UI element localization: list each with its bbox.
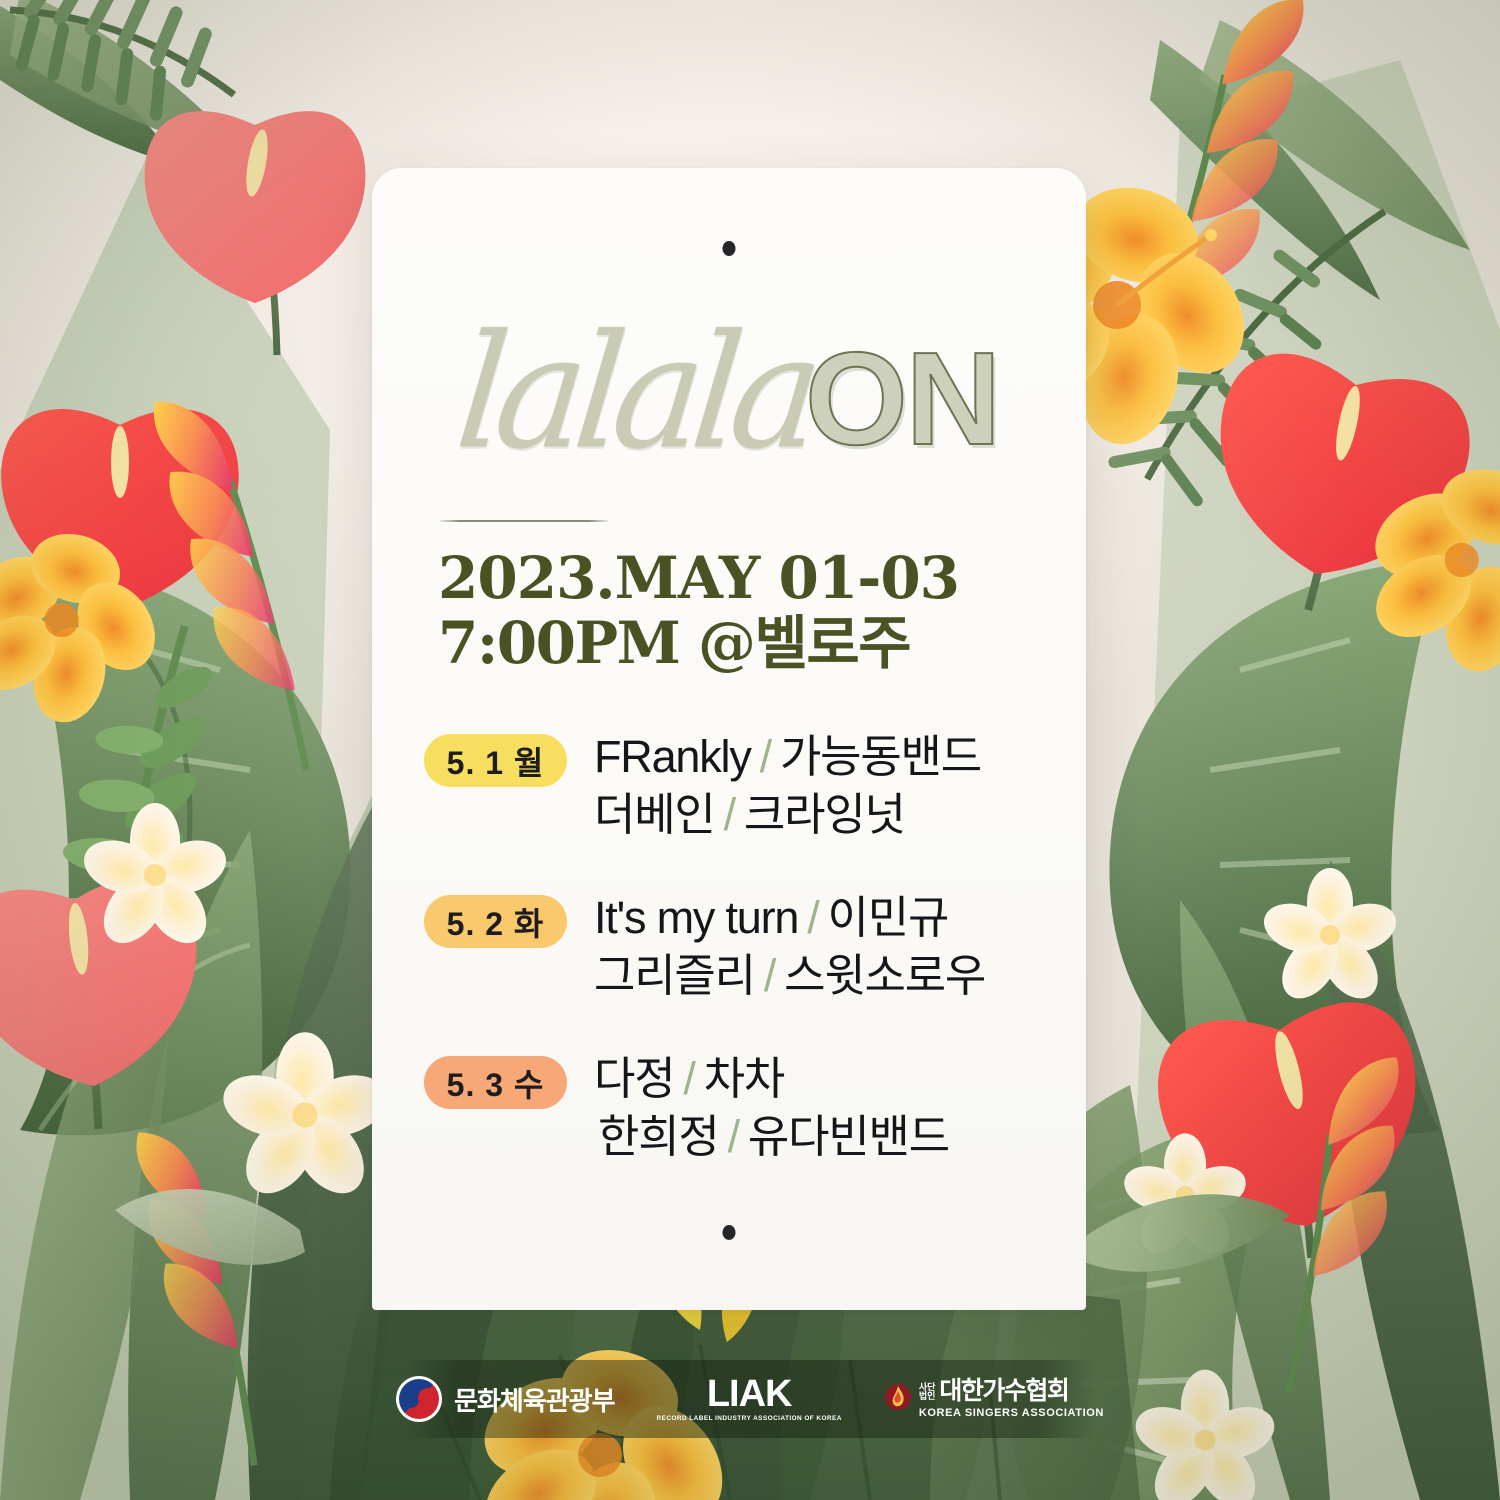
artist-row: 그리즐리/스윗소로우 <box>594 947 985 1005</box>
separator-slash: / <box>755 950 784 1001</box>
lineup-day: 5. 2 화 It's my turn/이민규 그리즐리/스윗소로우 <box>424 889 1072 1004</box>
ministry-logo: 문화체육관광부 <box>396 1376 614 1422</box>
separator-slash: / <box>719 1111 748 1162</box>
lineup-list: 5. 1 월 FRankly/가능동밴드 더베인/크라잉넛 5. 2 화 It'… <box>424 728 1072 1212</box>
decorative-dot-top <box>723 241 736 256</box>
artist-name: 유다빈밴드 <box>748 1111 949 1162</box>
ksa-logo: 사단 법인 대한가수협회 KOREA SINGERS ASSOCIATION <box>884 1379 1104 1419</box>
artist-name: 이민규 <box>828 892 949 943</box>
separator-slash: / <box>751 731 780 782</box>
lineup-day: 5. 1 월 FRankly/가능동밴드 더베인/크라잉넛 <box>424 728 1072 843</box>
day-artists: FRankly/가능동밴드 더베인/크라잉넛 <box>594 728 981 843</box>
event-logo: lalala ON <box>372 318 1086 488</box>
separator-slash: / <box>674 1053 703 1104</box>
day-artists: 다정/차차 한희정/유다빈밴드 <box>594 1050 949 1165</box>
artist-row: 더베인/크라잉넛 <box>594 786 981 844</box>
logo-bold-text: ON <box>805 333 999 465</box>
artist-name: 그리즐리 <box>594 950 755 1001</box>
sponsor-logo-bar: 문화체육관광부 LIAK RECORD LABEL INDUSTRY ASSOC… <box>405 1360 1095 1438</box>
day-badge: 5. 1 월 <box>424 734 567 787</box>
artist-name: FRankly <box>594 731 751 782</box>
artist-name: 크라잉넛 <box>744 789 905 840</box>
event-time-venue-line: 7:00PM @벨로주 <box>438 611 1038 676</box>
ksa-flame-icon <box>884 1382 912 1416</box>
liak-logo: LIAK RECORD LABEL INDUSTRY ASSOCIATION O… <box>657 1375 842 1423</box>
liak-wordmark: LIAK <box>707 1375 792 1413</box>
artist-name: 차차 <box>704 1053 784 1104</box>
logo-script-text: lalala <box>451 314 820 472</box>
taegeuk-icon <box>396 1376 442 1422</box>
artist-row: 다정/차차 <box>594 1050 949 1108</box>
decorative-dot-bottom <box>723 1225 736 1240</box>
artist-name: 스윗소로우 <box>784 950 985 1001</box>
separator-slash: / <box>715 789 744 840</box>
info-card: lalala ON 2023.MAY 01-03 7:00PM @벨로주 5. … <box>372 168 1086 1310</box>
event-date-block: 2023.MAY 01-03 7:00PM @벨로주 <box>438 546 1038 676</box>
artist-name: It's my turn <box>594 892 798 943</box>
liak-tagline: RECORD LABEL INDUSTRY ASSOCIATION OF KOR… <box>657 1416 842 1423</box>
artist-name: 가능동밴드 <box>780 731 981 782</box>
ministry-label: 문화체육관광부 <box>454 1381 614 1418</box>
day-artists: It's my turn/이민규 그리즐리/스윗소로우 <box>594 889 985 1004</box>
poster-root: lalala ON 2023.MAY 01-03 7:00PM @벨로주 5. … <box>0 0 1500 1500</box>
event-date-line: 2023.MAY 01-03 <box>438 546 1038 611</box>
artist-name: 한희정 <box>598 1111 719 1162</box>
ksa-wordmark: 대한가수협회 <box>939 1379 1068 1404</box>
artist-row: FRankly/가능동밴드 <box>594 728 981 786</box>
ksa-tagline: KOREA SINGERS ASSOCIATION <box>919 1408 1104 1419</box>
artist-row: 한희정/유다빈밴드 <box>594 1108 949 1166</box>
lineup-day: 5. 3 수 다정/차차 한희정/유다빈밴드 <box>424 1050 1072 1165</box>
artist-name: 더베인 <box>594 789 715 840</box>
ksa-prefix-bottom: 법인 <box>919 1392 936 1401</box>
separator-slash: / <box>798 892 827 943</box>
ksa-text-block: 사단 법인 대한가수협회 KOREA SINGERS ASSOCIATION <box>919 1379 1104 1419</box>
day-badge: 5. 2 화 <box>424 895 567 948</box>
artist-name: 다정 <box>594 1053 674 1104</box>
logo-divider <box>440 520 608 522</box>
artist-row: It's my turn/이민규 <box>594 889 985 947</box>
day-badge: 5. 3 수 <box>424 1056 567 1109</box>
